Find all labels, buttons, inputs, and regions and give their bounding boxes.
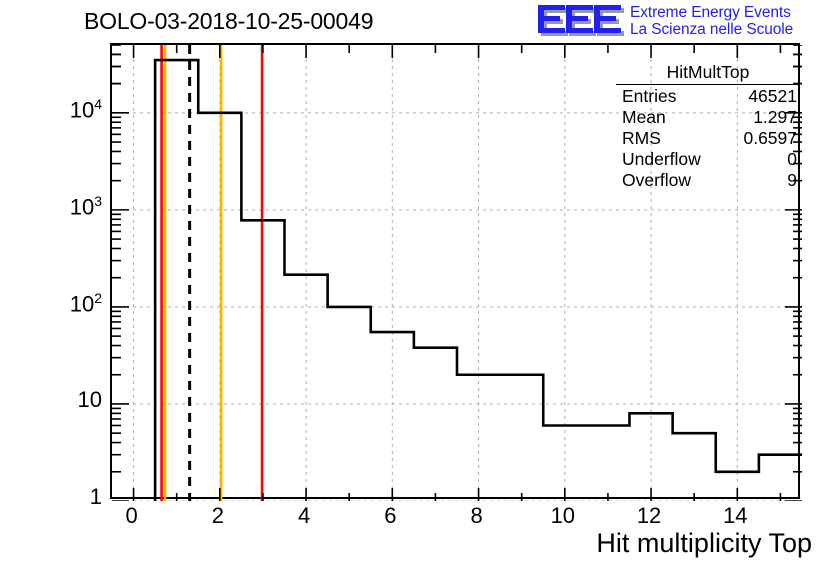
- eee-logo: Extreme Energy Events La Scienza nelle S…: [536, 2, 832, 42]
- eee-tagline-line2: La Scienza nelle Scuole: [630, 21, 793, 38]
- x-axis-tick-label: 12: [619, 503, 679, 529]
- stats-row: Entries46521: [616, 86, 800, 107]
- stats-row: RMS0.6597: [616, 128, 800, 149]
- x-axis-tick-label: 8: [447, 503, 507, 529]
- y-axis-tick-label: 104: [70, 96, 102, 123]
- eee-tagline-line1: Extreme Energy Events: [630, 4, 793, 21]
- stats-key: Underflow: [622, 149, 701, 170]
- y-axis-tick-label: 103: [70, 193, 102, 220]
- x-axis-tick-label: 14: [705, 503, 765, 529]
- x-axis-tick-label: 10: [533, 503, 593, 529]
- stats-value: 46521: [748, 86, 797, 107]
- stats-value: 0.6597: [743, 128, 797, 149]
- stats-key: Entries: [622, 86, 676, 107]
- page-title: BOLO-03-2018-10-25-00049: [84, 8, 373, 35]
- stats-value: 9: [787, 170, 797, 191]
- eee-logo-text: Extreme Energy Events La Scienza nelle S…: [630, 4, 793, 38]
- y-axis-tick-label: 10: [78, 387, 102, 413]
- stats-row: Overflow9: [616, 170, 800, 191]
- x-axis-title: Hit multiplicity Top: [596, 528, 812, 559]
- y-axis-tick-label: 102: [70, 290, 102, 317]
- chart-canvas: BOLO-03-2018-10-25-00049: [0, 0, 836, 572]
- stats-value: 0: [787, 149, 797, 170]
- stats-row: Mean1.297: [616, 107, 800, 128]
- eee-letters-icon: [536, 3, 626, 41]
- x-axis-tick-label: 0: [102, 503, 162, 529]
- stats-value: 1.297: [753, 107, 797, 128]
- x-axis-tick-label: 6: [360, 503, 420, 529]
- stats-row: Underflow0: [616, 149, 800, 170]
- stats-key: Mean: [622, 107, 666, 128]
- stats-key: Overflow: [622, 170, 691, 191]
- stats-title: HitMultTop: [616, 62, 800, 85]
- stats-key: RMS: [622, 128, 661, 149]
- y-axis-tick-label: 1: [90, 484, 102, 510]
- stats-rows: Entries46521Mean1.297RMS0.6597Underflow0…: [616, 86, 800, 191]
- x-axis-tick-label: 4: [274, 503, 334, 529]
- x-axis-tick-label: 2: [188, 503, 248, 529]
- stats-box: HitMultTop Entries46521Mean1.297RMS0.659…: [616, 62, 800, 191]
